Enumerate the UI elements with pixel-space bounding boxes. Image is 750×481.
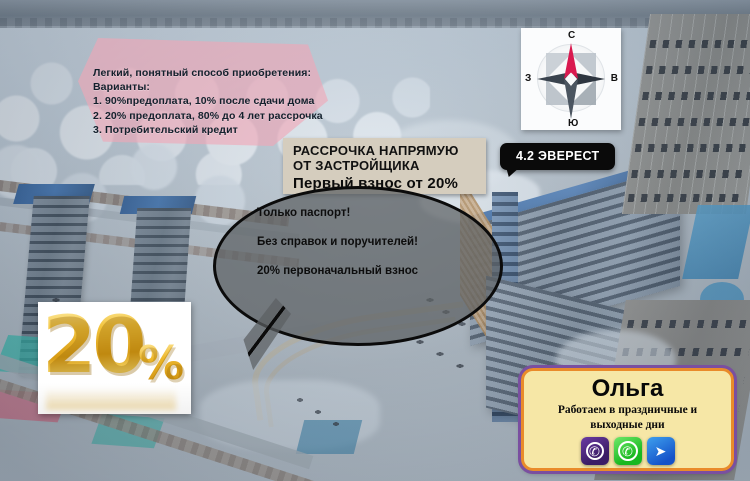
whatsapp-icon[interactable]: ✆ bbox=[614, 437, 642, 465]
discount-reflection bbox=[46, 388, 176, 410]
bubble-line-1: Только паспорт! bbox=[257, 206, 492, 221]
contact-name: Ольга bbox=[524, 371, 731, 403]
contact-note-line-2: выходные дни bbox=[524, 418, 731, 433]
purchase-options-line: Легкий, понятный способ приобретения: bbox=[93, 66, 355, 80]
purchase-options-line: 3. Потребительский кредит bbox=[93, 123, 355, 137]
messenger-icons: ✆ ✆ ➤ bbox=[524, 437, 731, 465]
bubble-line-3: 20% первоначальный взнос bbox=[257, 264, 492, 279]
discount-percent-sign: % bbox=[138, 340, 184, 386]
whatsapp-phone-glyph: ✆ bbox=[614, 437, 642, 465]
compass-west-label: З bbox=[525, 73, 531, 84]
headline-line-1: РАССРОЧКА НАПРЯМУЮ bbox=[283, 138, 486, 158]
speech-bubble: Только паспорт! Без справок и поручителе… bbox=[213, 186, 503, 346]
compass-north-label: С bbox=[568, 30, 575, 41]
bubble-line-2: Без справок и поручителей! bbox=[257, 235, 492, 250]
viber-phone-glyph: ✆ bbox=[581, 437, 609, 465]
contact-card: Ольга Работаем в праздничные и выходные … bbox=[521, 368, 734, 471]
purchase-options-line: 2. 20% предоплата, 80% до 4 лет рассрочк… bbox=[93, 109, 355, 123]
compass-rose-card: С Ю В З bbox=[521, 28, 621, 130]
purchase-options-line: Варианты: bbox=[93, 80, 355, 94]
compass-east-label: В bbox=[611, 73, 618, 84]
map-marker-everest[interactable]: 4.2 ЭВЕРЕСТ bbox=[500, 143, 615, 170]
map-marker-label[interactable]: 4.2 ЭВЕРЕСТ bbox=[500, 143, 615, 170]
purchase-options-text: Легкий, понятный способ приобретения: Ва… bbox=[93, 66, 355, 137]
compass-south-label: Ю bbox=[568, 118, 578, 129]
purchase-options-line: 1. 90%предоплата, 10% после сдачи дома bbox=[93, 94, 355, 108]
telegram-icon[interactable]: ➤ bbox=[647, 437, 675, 465]
promo-banner: Легкий, понятный способ приобретения: Ва… bbox=[0, 0, 750, 481]
speech-bubble-text: Только паспорт! Без справок и поручителе… bbox=[257, 206, 492, 293]
discount-20-percent-image: 20 % bbox=[38, 302, 191, 414]
headline-line-2: ОТ ЗАСТРОЙЩИКА bbox=[283, 158, 486, 173]
contact-note-line-1: Работаем в праздничные и bbox=[524, 403, 731, 418]
telegram-plane-glyph: ➤ bbox=[647, 437, 675, 465]
viber-icon[interactable]: ✆ bbox=[581, 437, 609, 465]
